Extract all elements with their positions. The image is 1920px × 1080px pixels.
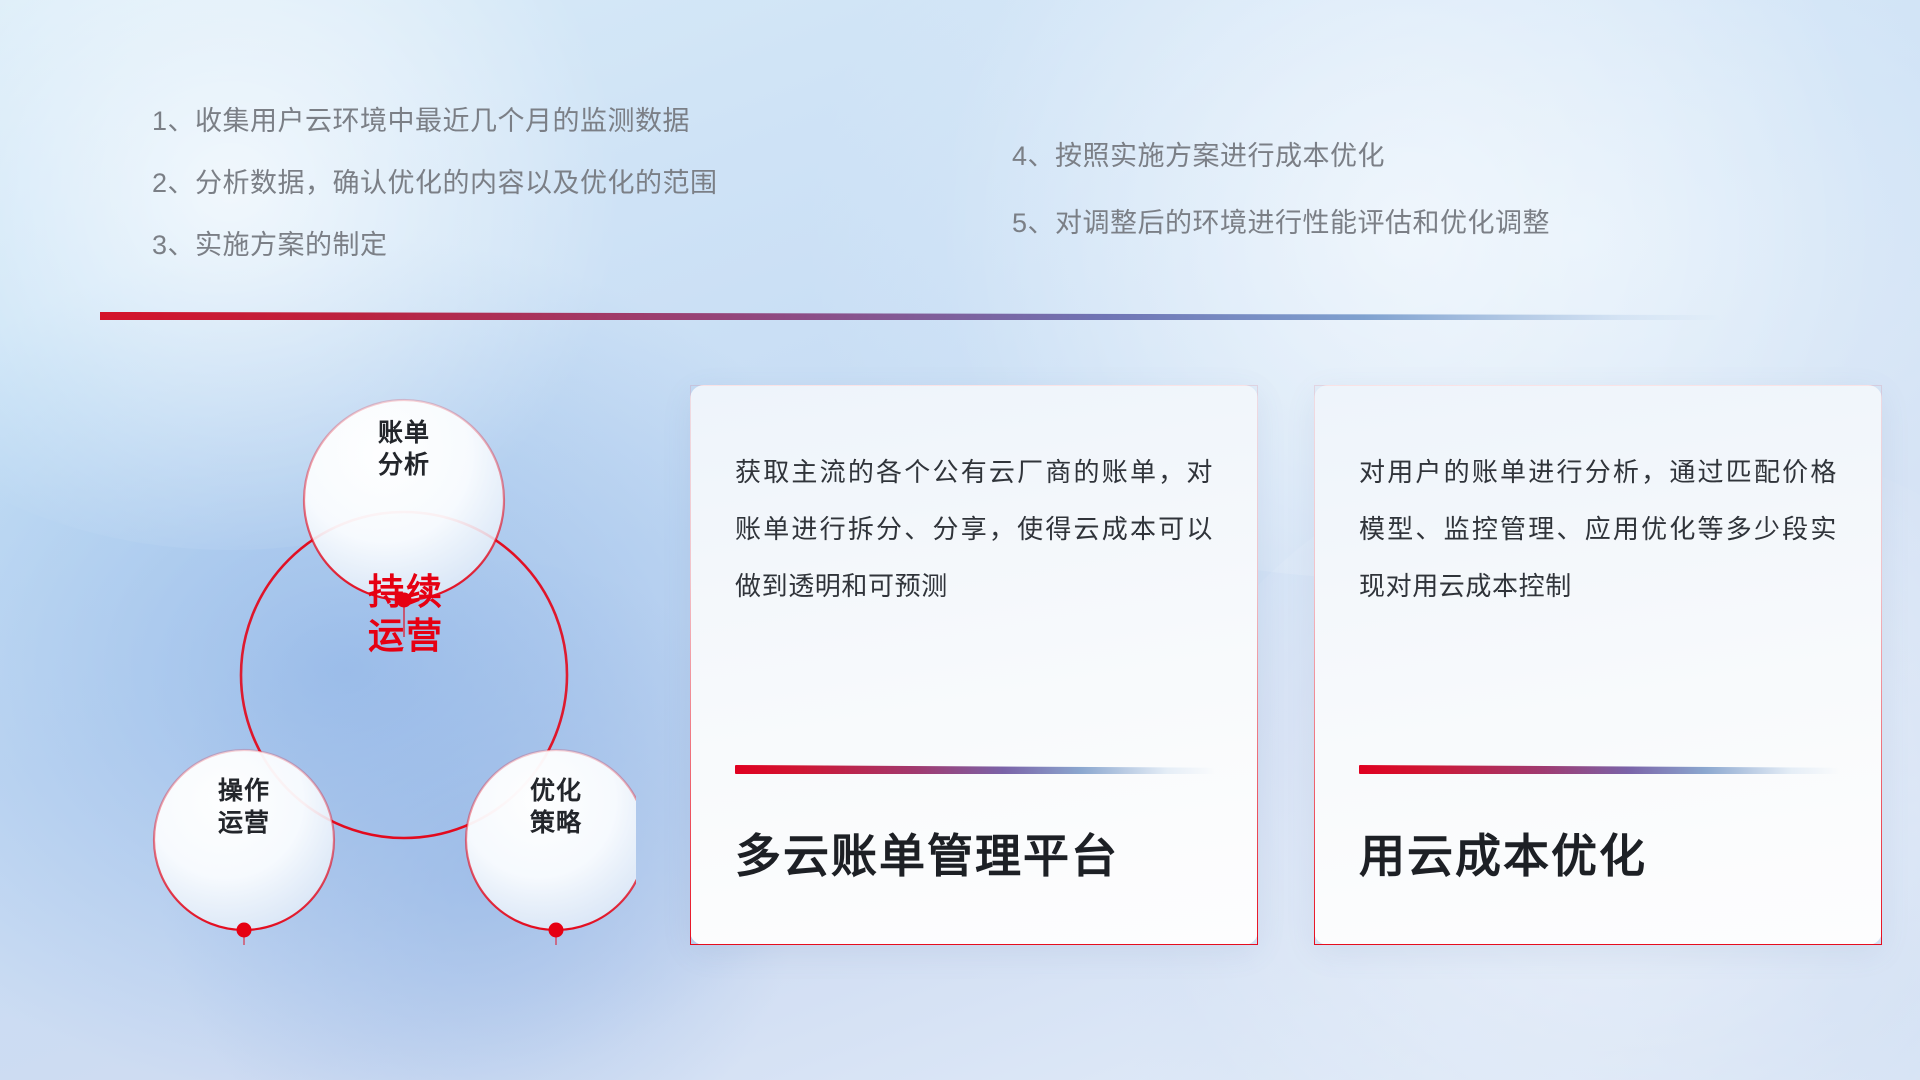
process-step-1: 1、收集用户云环境中最近几个月的监测数据: [152, 108, 1012, 135]
bubble-label-optimization-line1: 优化: [466, 775, 646, 807]
bubble-label-operation-line2: 运营: [154, 807, 334, 839]
diagram-center-label-line2: 运营: [311, 614, 501, 658]
feature-card-multicloud-billing-rule: [735, 765, 1215, 774]
feature-card-cost-optimization-body: 对用户的账单进行分析，通过匹配价格模型、监控管理、应用优化等多少段实现对用云成本…: [1359, 444, 1837, 616]
continuous-operation-diagram: 账单 分析 操作 运营 优化 策略 持续 运营: [96, 345, 636, 945]
process-steps-column-left: 1、收集用户云环境中最近几个月的监测数据 2、分析数据，确认优化的内容以及优化的…: [152, 108, 1012, 294]
feature-card-cost-optimization-title: 用云成本优化: [1359, 820, 1647, 886]
bubble-label-operation: 操作 运营: [154, 775, 334, 839]
section-divider-bar: [100, 312, 1720, 320]
bubble-label-bill-analysis: 账单 分析: [314, 417, 494, 481]
feature-card-cost-optimization[interactable]: 对用户的账单进行分析，通过匹配价格模型、监控管理、应用优化等多少段实现对用云成本…: [1314, 385, 1882, 945]
process-step-3: 3、实施方案的制定: [152, 232, 1012, 259]
bubble-label-operation-line1: 操作: [154, 775, 334, 807]
feature-card-multicloud-billing-body: 获取主流的各个公有云厂商的账单，对账单进行拆分、分享，使得云成本可以做到透明和可…: [735, 444, 1213, 616]
bubble-label-bill-analysis-line2: 分析: [314, 449, 494, 481]
process-step-5: 5、对调整后的环境进行性能评估和优化调整: [1012, 210, 1772, 237]
bubble-label-optimization-line2: 策略: [466, 807, 646, 839]
dot-bottom-right: [549, 923, 564, 938]
dot-bottom-left: [237, 923, 252, 938]
process-steps-column-right: 4、按照实施方案进行成本优化 5、对调整后的环境进行性能评估和优化调整: [1012, 108, 1772, 294]
feature-card-multicloud-billing-title: 多云账单管理平台: [735, 820, 1119, 886]
bubble-label-optimization: 优化 策略: [466, 775, 646, 839]
process-step-4: 4、按照实施方案进行成本优化: [1012, 143, 1772, 170]
process-step-2: 2、分析数据，确认优化的内容以及优化的范围: [152, 170, 1012, 197]
feature-cards: 获取主流的各个公有云厂商的账单，对账单进行拆分、分享，使得云成本可以做到透明和可…: [690, 385, 1882, 945]
diagram-center-label-line1: 持续: [311, 570, 501, 614]
feature-card-cost-optimization-rule: [1359, 765, 1839, 774]
diagram-center-label: 持续 运营: [311, 570, 501, 658]
slide-root: 1、收集用户云环境中最近几个月的监测数据 2、分析数据，确认优化的内容以及优化的…: [0, 0, 1920, 1080]
process-steps-list: 1、收集用户云环境中最近几个月的监测数据 2、分析数据，确认优化的内容以及优化的…: [152, 108, 1792, 294]
bubble-label-bill-analysis-line1: 账单: [314, 417, 494, 449]
feature-card-multicloud-billing[interactable]: 获取主流的各个公有云厂商的账单，对账单进行拆分、分享，使得云成本可以做到透明和可…: [690, 385, 1258, 945]
section-divider: [100, 312, 1720, 320]
